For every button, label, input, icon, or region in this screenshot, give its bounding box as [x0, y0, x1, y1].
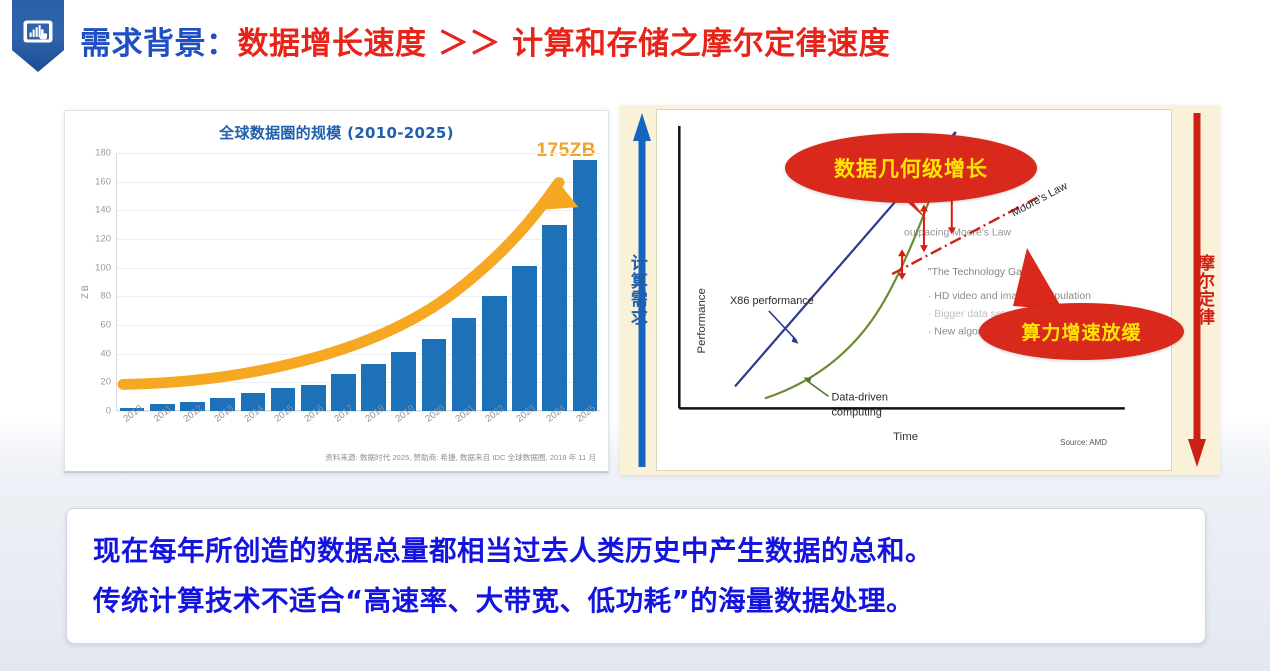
callout-data-growth-label: 数据几何级增长 [834, 153, 988, 183]
chart-plot-area: 020406080100120140160180 201020112012201… [117, 153, 600, 411]
svg-text:computing: computing [831, 406, 881, 418]
chart-y-axis-title: ZB [80, 283, 90, 299]
svg-text:Performance: Performance [696, 288, 708, 353]
moores-law-label: 摩尔定律 [1194, 254, 1212, 326]
chart-y-tick-label: 60 [100, 320, 111, 331]
slide-header: 需求背景：数据增长速度 ＞＞ 计算和存储之摩尔定律速度 [0, 0, 1270, 92]
page-title-main: 数据增长速度 ＞＞ 计算和存储之摩尔定律速度 [238, 26, 891, 62]
svg-text:X86 performance: X86 performance [730, 295, 814, 307]
page-title-prefix: 需求背景： [80, 26, 238, 62]
svg-text:Data-driven: Data-driven [831, 391, 887, 403]
diagram-plot-frame: outpacing Moore's Law "The Technology Ga… [656, 109, 1172, 471]
page-title: 需求背景：数据增长速度 ＞＞ 计算和存储之摩尔定律速度 [80, 18, 890, 63]
performance-gap-diagram-card: 计算需求 摩尔定律 outpacing Moore's Law "The Tec… [620, 105, 1220, 475]
chart-source-note: 资料来源: 数据时代 2025, 赞助商: 希捷, 数据来自 IDC 全球数据圈… [325, 452, 596, 463]
chart-tablet-hand-icon [23, 20, 53, 43]
chart-y-tick-label: 100 [95, 262, 111, 273]
header-badge [12, 0, 64, 72]
global-datasphere-chart-card: 全球数据圈的规模 (2010-2025) 175ZB ZB 0204060801… [64, 110, 609, 473]
svg-text:Source: AMD: Source: AMD [1060, 438, 1107, 447]
chart-y-tick-label: 180 [95, 148, 111, 159]
statement-line-1: 现在每年所创造的数据总量都相当过去人类历史中产生数据的总和。 [93, 537, 1179, 566]
chart-y-tick-label: 160 [95, 176, 111, 187]
svg-text:Time: Time [893, 431, 918, 443]
chart-y-tick-label: 0 [106, 406, 111, 417]
chart-y-tick-label: 20 [100, 377, 111, 388]
callout-data-growth: 数据几何级增长 [785, 133, 1037, 203]
statement-line-2: 传统计算技术不适合“高速率、大带宽、低功耗”的海量数据处理。 [93, 587, 1179, 616]
callout-compute-slowdown: 算力增速放缓 [979, 303, 1184, 360]
chart-trend-arrow [117, 153, 600, 411]
chart-title: 全球数据圈的规模 (2010-2025) [65, 122, 608, 143]
compute-demand-label: 计算需求 [627, 254, 645, 326]
callout-compute-slowdown-label: 算力增速放缓 [1021, 318, 1141, 345]
chart-y-tick-label: 140 [95, 205, 111, 216]
svg-text:outpacing Moore's Law: outpacing Moore's Law [904, 227, 1011, 238]
chart-y-tick-label: 40 [100, 348, 111, 359]
chart-y-tick-label: 120 [95, 234, 111, 245]
summary-statement-box: 现在每年所创造的数据总量都相当过去人类历史中产生数据的总和。 传统计算技术不适合… [66, 508, 1206, 644]
chart-y-tick-label: 80 [100, 291, 111, 302]
